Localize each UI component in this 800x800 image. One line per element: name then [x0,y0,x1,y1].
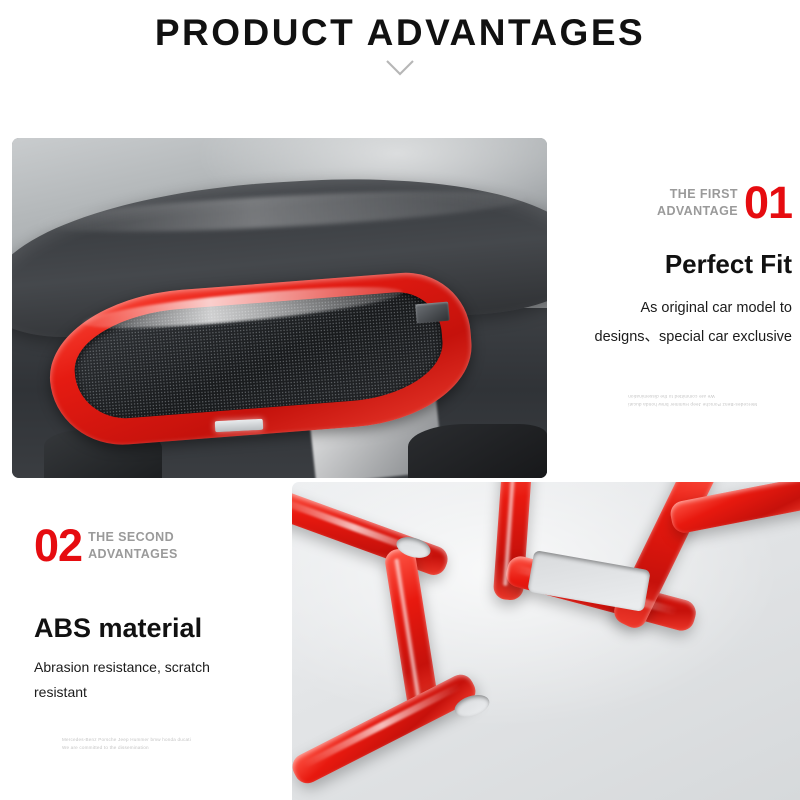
car-interior-speaker-trim-installed [12,138,547,478]
advantage-02-badge: 02 THE SECOND ADVANTAGES [34,525,334,566]
advantage-01-badge: THE FIRST ADVANTAGE 01 [530,182,792,223]
advantage-02-label-line1: THE SECOND [88,529,178,546]
advantage-02-body-line1: Abrasion resistance, scratch [34,655,334,680]
watermark-01-line1: Mercedes-Benz Porsche Jeep Hummer bmw ho… [628,400,792,408]
advantage-02-body-line2: resistant [34,680,334,705]
advantage-02-number: 02 [34,525,82,566]
red-abs-trim-frames [292,482,800,800]
advantage-02-label: THE SECOND ADVANTAGES [88,529,178,562]
watermark-02-line1: Mercedes-Benz Porsche Jeep Hummer bmw ho… [62,736,262,744]
watermark-02-line2: We are committed to the dissemination [62,744,262,752]
advantage-01-label-line2: ADVANTAGE [657,203,738,220]
watermark-01: Mercedes-Benz Porsche Jeep Hummer bmw ho… [628,392,792,408]
advantage-02-body: Abrasion resistance, scratch resistant [34,655,334,704]
trim-switch-button [415,301,450,323]
header: PRODUCT ADVANTAGES [0,0,800,100]
advantage-01-body-line1: As original car model to [530,294,792,322]
advantage-02-label-line2: ADVANTAGES [88,546,178,563]
advantage-block-01: THE FIRST ADVANTAGE 01 Perfect Fit As or… [530,182,792,351]
advantage-01-body-line2: designs、special car exclusive [530,323,792,351]
chevron-down-icon [384,58,416,78]
advantage-01-heading: Perfect Fit [530,249,792,280]
advantage-01-body: As original car model to designs、special… [530,294,792,351]
advantage-01-number: 01 [744,182,792,223]
advantage-01-label-line1: THE FIRST [657,186,738,203]
watermark-01-line2: We are committed to the dissemination [628,392,792,400]
advantage-01-label: THE FIRST ADVANTAGE [657,186,738,219]
seat-right [408,424,547,478]
advantage-block-02: 02 THE SECOND ADVANTAGES ABS material Ab… [34,525,334,704]
advantage-02-heading: ABS material [34,613,334,644]
page-title: PRODUCT ADVANTAGES [0,12,800,54]
product-advantages-page: PRODUCT ADVANTAGES [0,0,800,800]
watermark-02: Mercedes-Benz Porsche Jeep Hummer bmw ho… [62,736,262,752]
